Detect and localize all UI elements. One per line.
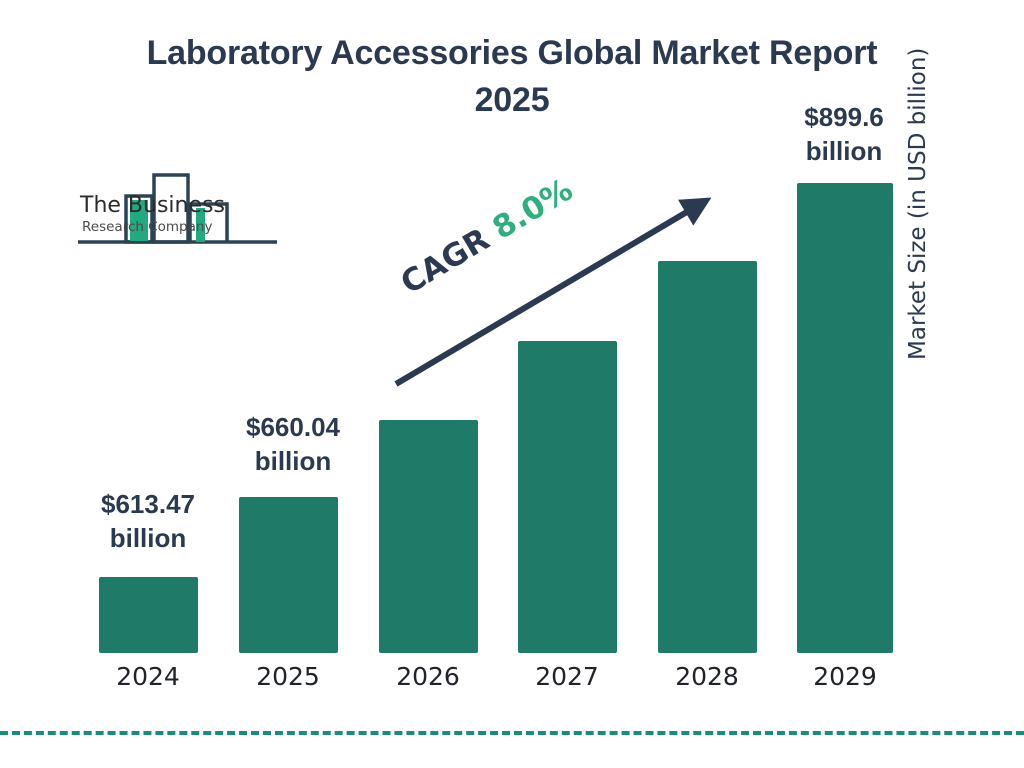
- bar-2024: [99, 577, 198, 653]
- xtick-2025: 2025: [218, 662, 358, 691]
- value-label-2025-line2: billion: [213, 444, 373, 478]
- value-label-2029: $899.6 billion: [764, 100, 924, 169]
- y-axis-title: Market Size (in USD billion): [905, 20, 931, 360]
- bar-2025: [239, 497, 338, 653]
- bar-2029: [797, 183, 893, 653]
- xtick-2024: 2024: [78, 662, 218, 691]
- plot-area: 2024 2025 2026 2027 2028 2029 $613.47 bi…: [0, 0, 1024, 768]
- value-label-2024-line2: billion: [68, 521, 228, 555]
- bar-2026: [379, 420, 478, 653]
- cagr-prefix: CAGR: [395, 221, 496, 301]
- footer-divider: [0, 731, 1024, 735]
- xtick-2028: 2028: [637, 662, 777, 691]
- value-label-2029-line2: billion: [764, 134, 924, 168]
- cagr-label: CAGR 8.0%: [395, 172, 579, 302]
- bar-2027: [518, 341, 617, 653]
- cagr-value: 8.0%: [487, 172, 579, 247]
- value-label-2025-line1: $660.04: [213, 410, 373, 444]
- value-label-2024-line1: $613.47: [68, 487, 228, 521]
- xtick-2029: 2029: [775, 662, 915, 691]
- xtick-2027: 2027: [497, 662, 637, 691]
- xtick-2026: 2026: [358, 662, 498, 691]
- value-label-2029-line1: $899.6: [764, 100, 924, 134]
- value-label-2025: $660.04 billion: [213, 410, 373, 479]
- value-label-2024: $613.47 billion: [68, 487, 228, 556]
- bar-2028: [658, 261, 757, 653]
- chart-canvas: Laboratory Accessories Global Market Rep…: [0, 0, 1024, 768]
